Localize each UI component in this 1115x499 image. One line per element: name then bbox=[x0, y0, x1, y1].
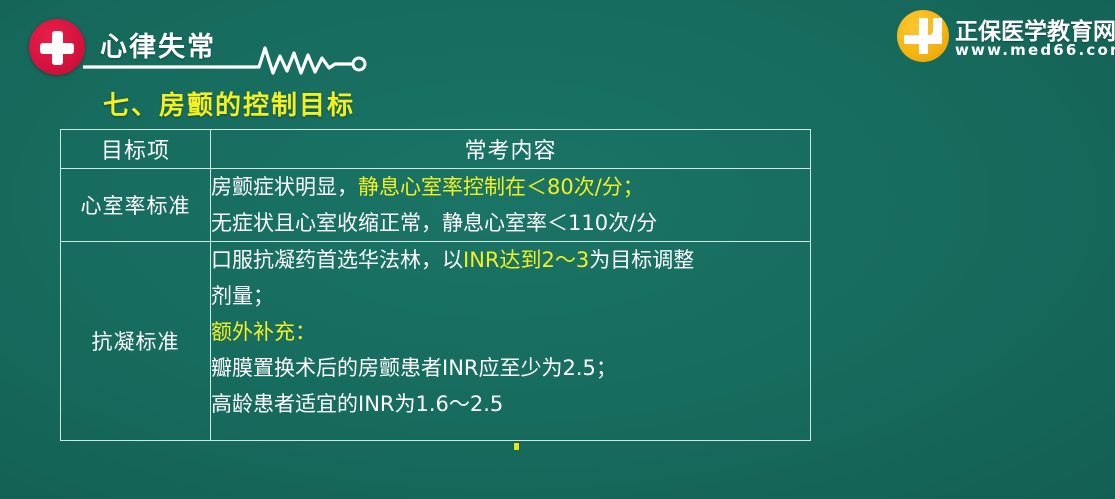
control-targets-table: 目标项 常考内容 心室率标准 房颤症状明显，静息心室率控制在＜80次/分；无症状… bbox=[60, 129, 811, 441]
content-line: 剂量； bbox=[211, 278, 810, 314]
plain-text: 口服抗凝药首选华法林，以 bbox=[211, 248, 463, 272]
cross-vertical-bar bbox=[52, 31, 63, 65]
highlighted-text: INR达到2～3 bbox=[463, 248, 589, 272]
plain-text: 无症状且心室收缩正常，静息心室率＜110次/分 bbox=[211, 211, 657, 235]
content-line: 口服抗凝药首选华法林，以INR达到2～3为目标调整 bbox=[211, 242, 810, 278]
row-key-anticoagulation: 抗凝标准 bbox=[61, 242, 211, 441]
plain-text: 为目标调整 bbox=[589, 248, 694, 272]
plain-text: 瓣膜置换术后的房颤患者INR应至少为2.5； bbox=[211, 356, 617, 380]
cursor-artifact bbox=[514, 443, 519, 450]
table-header-exam-content: 常考内容 bbox=[211, 130, 811, 169]
content-line: 高龄患者适宜的INR为1.6～2.5 bbox=[211, 386, 810, 422]
medical-cross-icon bbox=[29, 19, 85, 75]
highlighted-text: 静息心室率控制在＜80次/分； bbox=[358, 175, 644, 199]
site-logo: 正保医学教育网 www.med66.com bbox=[897, 8, 1107, 64]
content-line: 瓣膜置换术后的房颤患者INR应至少为2.5； bbox=[211, 350, 810, 386]
plain-text: 剂量； bbox=[211, 284, 274, 308]
plain-text: 高龄患者适宜的INR为1.6～2.5 bbox=[211, 392, 503, 416]
content-line: 无症状且心室收缩正常，静息心室率＜110次/分 bbox=[211, 205, 810, 241]
table-row: 心室率标准 房颤症状明显，静息心室率控制在＜80次/分；无症状且心室收缩正常，静… bbox=[61, 169, 811, 242]
row-content-anticoagulation: 口服抗凝药首选华法林，以INR达到2～3为目标调整剂量；额外补充：瓣膜置换术后的… bbox=[211, 242, 811, 441]
row-content-ventricular-rate: 房颤症状明显，静息心室率控制在＜80次/分；无症状且心室收缩正常，静息心室率＜1… bbox=[211, 169, 811, 242]
plain-text: 房颤症状明显， bbox=[211, 175, 358, 199]
table-row: 抗凝标准 口服抗凝药首选华法林，以INR达到2～3为目标调整剂量；额外补充：瓣膜… bbox=[61, 242, 811, 441]
slide-root: 心律失常 七、房颤的控制目标 正保医学教育网 www.med66.com bbox=[0, 0, 1115, 499]
table-header-row: 目标项 常考内容 bbox=[61, 130, 811, 169]
logo-url: www.med66.com bbox=[955, 41, 1115, 59]
highlighted-text: 额外补充： bbox=[211, 320, 316, 344]
slide-header: 心律失常 七、房颤的控制目标 正保医学教育网 www.med66.com bbox=[0, 0, 1115, 86]
ecg-waveform-icon bbox=[83, 40, 373, 80]
table-header-target-item: 目标项 bbox=[61, 130, 211, 169]
page-title: 七、房颤的控制目标 bbox=[103, 85, 355, 122]
content-line: 房颤症状明显，静息心室率控制在＜80次/分； bbox=[211, 169, 810, 205]
medical-cross-circle-icon bbox=[897, 10, 949, 62]
content-line: 额外补充： bbox=[211, 314, 810, 350]
row-key-ventricular-rate: 心室率标准 bbox=[61, 169, 211, 242]
